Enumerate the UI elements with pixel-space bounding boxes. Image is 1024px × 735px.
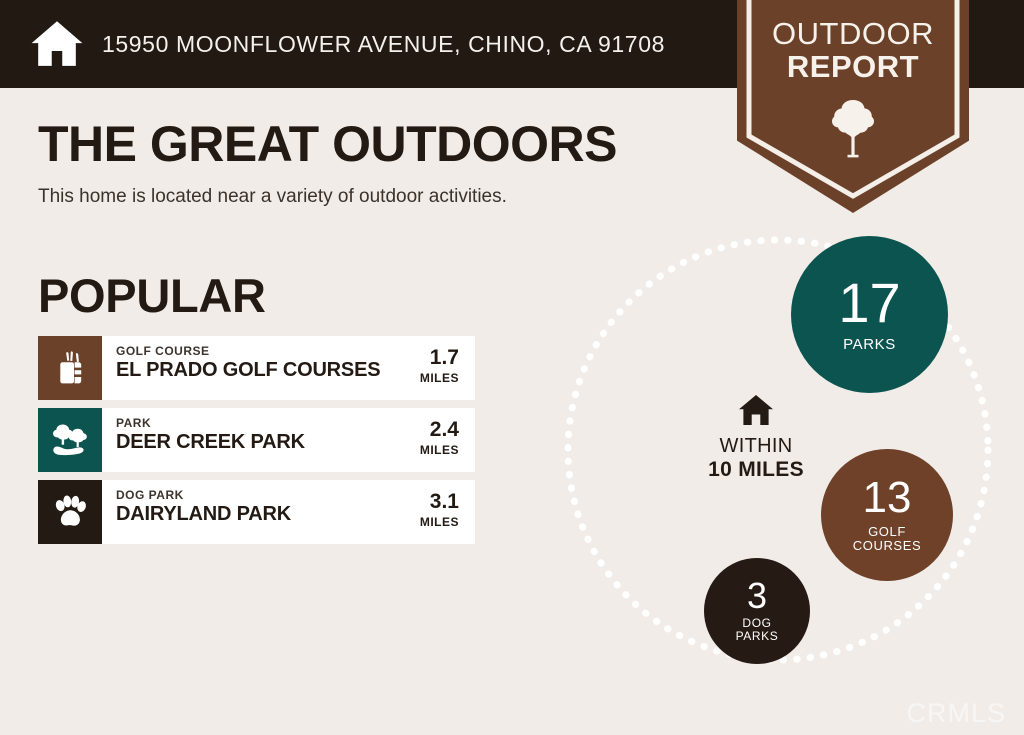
list-item-distance: 2.4 MILES (389, 408, 475, 472)
home-icon (676, 394, 836, 426)
list-item-category: PARK (116, 417, 389, 430)
list-item-text: DOG PARK DAIRYLAND PARK (102, 480, 389, 544)
property-address: 15950 MOONFLOWER AVENUE, CHINO, CA 91708 (102, 31, 665, 58)
list-item-name: EL PRADO GOLF COURSES (116, 359, 389, 381)
distance-unit: MILES (389, 443, 459, 457)
list-item-name: DAIRYLAND PARK (116, 503, 389, 525)
popular-list: GOLF COURSE EL PRADO GOLF COURSES 1.7 MI… (38, 336, 475, 552)
stat-label-line2: PARKS (736, 630, 779, 643)
stat-label: PARKS (843, 337, 896, 353)
popular-heading: POPULAR (38, 268, 266, 323)
list-item-name: DEER CREEK PARK (116, 431, 389, 453)
stat-label-line1: GOLF (853, 525, 922, 539)
distance-value: 1.7 (389, 347, 459, 369)
stat-value: 3 (747, 579, 767, 613)
home-icon (28, 15, 86, 73)
stat-label: DOG PARKS (736, 617, 779, 643)
badge-title-line2: REPORT (737, 51, 969, 84)
stat-value: 17 (838, 276, 900, 329)
page-title: THE GREAT OUTDOORS (38, 118, 718, 171)
stat-bubble-dog-parks[interactable]: 3 DOG PARKS (704, 558, 810, 664)
center-callout-line2: 10 MILES (676, 458, 836, 482)
center-callout-line1: WITHIN (676, 435, 836, 458)
list-item-text: GOLF COURSE EL PRADO GOLF COURSES (102, 336, 389, 400)
stat-label-line2: COURSES (853, 539, 922, 553)
crmls-watermark: CRMLS (906, 698, 1006, 729)
list-item[interactable]: PARK DEER CREEK PARK 2.4 MILES (38, 408, 475, 472)
stat-value: 13 (863, 477, 912, 519)
badge-title-line1: OUTDOOR (737, 18, 969, 51)
distance-unit: MILES (389, 371, 459, 385)
golf-bag-icon (38, 336, 102, 400)
stat-label: GOLF COURSES (853, 525, 922, 553)
list-item-category: GOLF COURSE (116, 345, 389, 358)
outdoor-report-badge: OUTDOOR REPORT (737, 0, 969, 213)
page-subtitle: This home is located near a variety of o… (38, 186, 718, 208)
list-item-text: PARK DEER CREEK PARK (102, 408, 389, 472)
stat-bubble-parks[interactable]: 17 PARKS (791, 236, 948, 393)
tree-icon (737, 98, 969, 160)
title-block: THE GREAT OUTDOORS This home is located … (38, 118, 718, 208)
list-item[interactable]: GOLF COURSE EL PRADO GOLF COURSES 1.7 MI… (38, 336, 475, 400)
center-callout: WITHIN 10 MILES (676, 394, 836, 482)
distance-unit: MILES (389, 515, 459, 529)
list-item-distance: 1.7 MILES (389, 336, 475, 400)
list-item-category: DOG PARK (116, 489, 389, 502)
list-item-distance: 3.1 MILES (389, 480, 475, 544)
stat-bubble-golf-courses[interactable]: 13 GOLF COURSES (821, 449, 953, 581)
list-item[interactable]: DOG PARK DAIRYLAND PARK 3.1 MILES (38, 480, 475, 544)
proximity-infographic: 17 PARKS 13 GOLF COURSES 3 DOG PARKS WIT… (528, 228, 1024, 688)
distance-value: 3.1 (389, 491, 459, 513)
distance-value: 2.4 (389, 419, 459, 441)
badge-title: OUTDOOR REPORT (737, 18, 969, 84)
paw-print-icon (38, 480, 102, 544)
trees-icon (38, 408, 102, 472)
